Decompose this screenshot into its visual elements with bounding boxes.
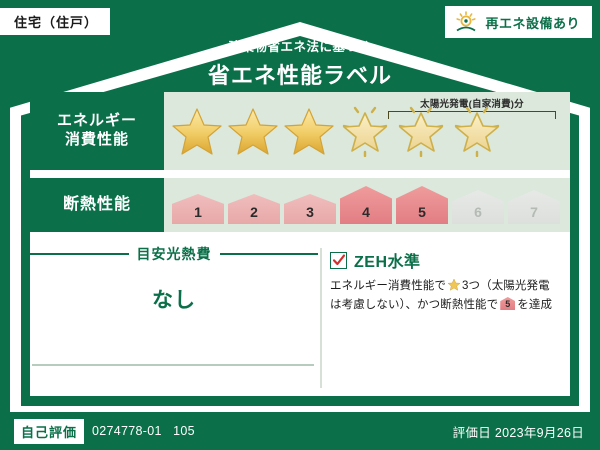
zeh-text-stars: 3つ（太陽光発電: [462, 280, 550, 292]
zeh-text-part3: を達成: [517, 299, 552, 311]
rule-left: [30, 253, 129, 255]
solar-sun-icon: [454, 11, 478, 33]
footer-bar: 自己評価 0274778-01 105 評価日 2023年9月26日: [0, 412, 600, 450]
energy-performance-label: エネルギー 消費性能: [30, 92, 164, 170]
star-rating: [170, 105, 504, 157]
zeh-checkbox[interactable]: [330, 252, 347, 269]
inline-star-icon: [447, 278, 461, 291]
star-solar-icon: [338, 105, 392, 157]
insulation-performance-label: 断熱性能: [30, 178, 164, 232]
insulation-performance-body: 1 2 3 4 5 6 7: [164, 178, 570, 232]
star-solar-icon: [394, 105, 448, 157]
building-type-tag: 住宅（住戸）: [0, 8, 110, 35]
check-icon: [332, 253, 346, 267]
renewable-badge-label: 再エネ設備あり: [485, 13, 580, 32]
utility-cost-section: 目安光熱費 なし: [30, 242, 318, 396]
utility-cost-underline: [32, 364, 314, 366]
utility-cost-title: 目安光熱費: [137, 244, 212, 264]
evaluation-id-main: 0274778-01: [92, 424, 162, 438]
zeh-description: エネルギー消費性能で3つ（太陽光発電は考慮しない）、かつ断熱性能で5を達成: [330, 277, 570, 315]
evaluation-date-value: 2023年9月26日: [495, 426, 584, 440]
energy-performance-label: 住宅（住戸） 再エネ設備あり 建築物省エネ法に基づく 省エネ性能ラベル エネルギ…: [0, 0, 600, 450]
evaluation-date: 評価日 2023年9月26日: [453, 422, 584, 441]
star-filled-icon: [170, 105, 224, 157]
vertical-divider: [320, 248, 322, 388]
title-block: 建築物省エネ法に基づく 省エネ性能ラベル: [0, 36, 600, 90]
energy-performance-body: 太陽光発電(自家消費)分: [164, 92, 570, 170]
title-subtitle: 建築物省エネ法に基づく: [0, 36, 600, 55]
lower-section: 目安光熱費 なし ZEH水準 エネルギー消費性能で3つ（太陽光発電は考慮しな: [30, 242, 570, 396]
rule-right: [220, 253, 319, 255]
energy-label-line2: 消費性能: [65, 131, 129, 150]
evaluation-date-label: 評価日: [453, 426, 491, 440]
energy-label-line1: エネルギー: [57, 112, 137, 131]
zeh-heading: ZEH水準: [330, 248, 570, 272]
star-solar-icon: [450, 105, 504, 157]
insulation-grade-chip: 1: [172, 194, 224, 224]
page-title: 省エネ性能ラベル: [0, 58, 600, 90]
evaluation-type-badge: 自己評価: [14, 419, 84, 444]
insulation-grade-chip: 3: [284, 194, 336, 224]
zeh-text-part2: は考慮しない）、かつ断熱性能で: [330, 299, 498, 311]
renewable-energy-badge: 再エネ設備あり: [445, 6, 592, 38]
zeh-section: ZEH水準 エネルギー消費性能で3つ（太陽光発電は考慮しない）、かつ断熱性能で5…: [330, 242, 570, 396]
energy-performance-row: エネルギー 消費性能 太陽光発電(自家消費)分: [30, 92, 570, 170]
zeh-text-part1: エネルギー消費性能で: [330, 280, 446, 292]
insulation-grade-chip: 7: [508, 190, 560, 224]
utility-cost-value: なし: [30, 284, 318, 314]
inline-grade-value: 5: [500, 297, 515, 310]
star-filled-icon: [282, 105, 336, 157]
insulation-grade-chip-active: 5: [396, 186, 448, 224]
zeh-title: ZEH水準: [354, 248, 421, 272]
evaluation-id-sub: 105: [173, 424, 195, 438]
insulation-grade-scale: 1 2 3 4 5 6 7: [172, 186, 560, 224]
insulation-grade-chip: 2: [228, 194, 280, 224]
insulation-performance-row: 断熱性能 1 2 3 4 5 6 7: [30, 178, 570, 232]
evaluation-id: 0274778-01 105: [92, 424, 195, 438]
label-card: エネルギー 消費性能 太陽光発電(自家消費)分: [30, 92, 570, 396]
insulation-grade-chip: 4: [340, 186, 392, 224]
insulation-grade-chip: 6: [452, 190, 504, 224]
star-filled-icon: [226, 105, 280, 157]
inline-grade-chip: 5: [500, 297, 515, 310]
utility-cost-heading: 目安光熱費: [30, 244, 318, 264]
